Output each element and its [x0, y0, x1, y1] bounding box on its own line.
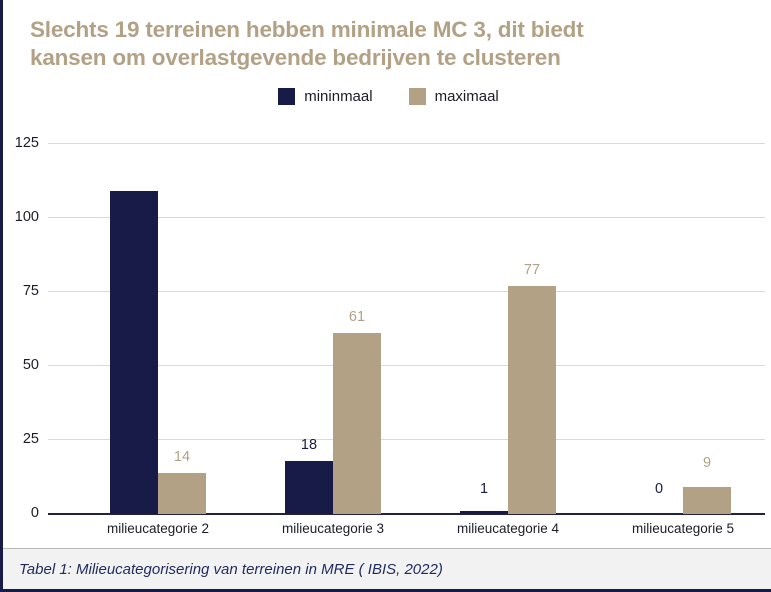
bar-maximaal-milieucategorie-3[interactable]	[333, 333, 381, 514]
y-tick-125: 125	[15, 135, 39, 151]
title-block: Slechts 19 terreinen hebben minimale MC …	[30, 16, 740, 72]
y-tick-100: 100	[15, 209, 39, 225]
bar-label-maximaal-milieucategorie-4: 77	[524, 262, 540, 278]
gridline-125	[48, 143, 765, 144]
chart-legend: mininmaal maximaal	[3, 88, 771, 105]
bar-label-maximaal-milieucategorie-2: 14	[174, 449, 190, 465]
bar-label-maximaal-milieucategorie-5: 9	[703, 455, 711, 471]
legend-label-mininmaal: mininmaal	[304, 88, 372, 105]
bar-label-mininmaal-milieucategorie-4: 1	[480, 481, 488, 497]
x-tick-milieucategorie-4: milieucategorie 4	[457, 521, 559, 536]
bar-label-maximaal-milieucategorie-3: 61	[349, 309, 365, 325]
legend-item-maximaal: maximaal	[409, 88, 499, 105]
y-tick-25: 25	[23, 431, 39, 447]
bar-mininmaal-milieucategorie-3[interactable]	[285, 461, 333, 514]
x-tick-milieucategorie-2: milieucategorie 2	[107, 521, 209, 536]
legend-label-maximaal: maximaal	[435, 88, 499, 105]
page-title: Slechts 19 terreinen hebben minimale MC …	[30, 16, 740, 72]
legend-swatch-mininmaal	[278, 88, 295, 105]
plot-area: 125 100 75 50 25 0 109 14 18 61 1 77 0 9…	[48, 143, 765, 514]
figure-caption: Tabel 1: Milieucategorisering van terrei…	[3, 561, 443, 578]
bar-label-mininmaal-milieucategorie-3: 18	[301, 437, 317, 453]
bar-mininmaal-milieucategorie-4[interactable]	[460, 511, 508, 514]
bar-maximaal-milieucategorie-4[interactable]	[508, 286, 556, 514]
bar-label-mininmaal-milieucategorie-5: 0	[655, 481, 663, 497]
legend-item-mininmaal: mininmaal	[278, 88, 372, 105]
legend-swatch-maximaal	[409, 88, 426, 105]
bar-mininmaal-milieucategorie-2[interactable]	[110, 191, 158, 514]
caption-bar: Tabel 1: Milieucategorisering van terrei…	[3, 548, 771, 592]
chart-figure: Slechts 19 terreinen hebben minimale MC …	[0, 0, 771, 592]
bar-maximaal-milieucategorie-5[interactable]	[683, 487, 731, 514]
y-tick-75: 75	[23, 283, 39, 299]
y-tick-0: 0	[31, 505, 39, 521]
y-tick-50: 50	[23, 357, 39, 373]
bar-label-mininmaal-milieucategorie-2: 109	[122, 437, 146, 453]
x-tick-milieucategorie-3: milieucategorie 3	[282, 521, 384, 536]
x-tick-milieucategorie-5: milieucategorie 5	[632, 521, 734, 536]
bar-maximaal-milieucategorie-2[interactable]	[158, 473, 206, 514]
